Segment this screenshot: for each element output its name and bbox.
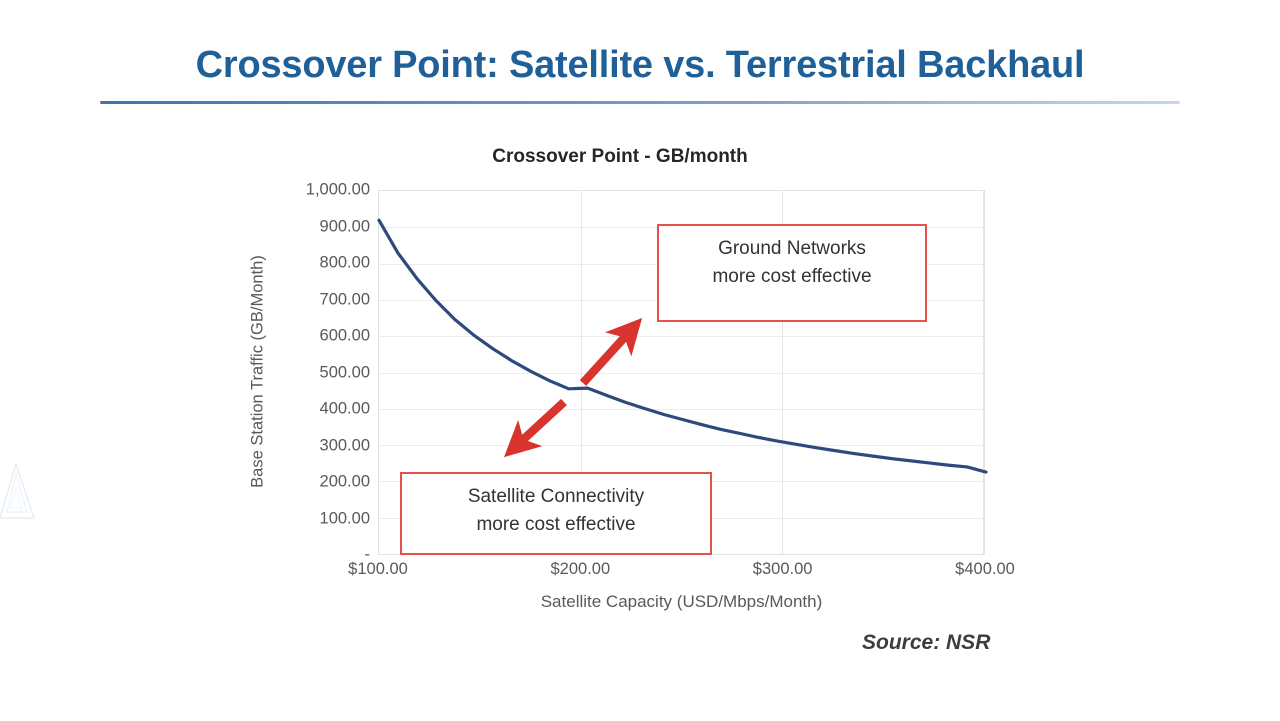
y-tick-label: 800.00 — [270, 254, 370, 273]
y-tick-label: 100.00 — [270, 509, 370, 528]
y-tick-label: 600.00 — [270, 327, 370, 346]
x-tick-label: $400.00 — [915, 560, 1055, 579]
x-axis-ticks: $100.00 $200.00 $300.00 $400.00 — [378, 560, 985, 586]
x-tick-label: $100.00 — [308, 560, 448, 579]
y-tick-label: 900.00 — [270, 217, 370, 236]
decorative-watermark-icon — [0, 462, 40, 522]
y-tick-label: 300.00 — [270, 436, 370, 455]
y-tick-label: 700.00 — [270, 290, 370, 309]
y-tick-label: 1,000.00 — [270, 181, 370, 200]
callout-line-1: Satellite Connectivity — [402, 483, 710, 511]
crossover-chart: Crossover Point - GB/month Base Station … — [210, 140, 1040, 670]
x-tick-label: $200.00 — [510, 560, 650, 579]
callout-satellite-connectivity: Satellite Connectivity more cost effecti… — [400, 472, 712, 555]
callout-line-1: Ground Networks — [659, 235, 925, 263]
page-title: Crossover Point: Satellite vs. Terrestri… — [0, 44, 1280, 87]
x-tick-label: $300.00 — [713, 560, 853, 579]
y-tick-label: 400.00 — [270, 400, 370, 419]
y-axis-ticks: 1,000.00 900.00 800.00 700.00 600.00 500… — [260, 190, 370, 555]
y-tick-label: 200.00 — [270, 473, 370, 492]
title-underline-rule — [100, 101, 1180, 104]
source-note: Source: NSR — [862, 631, 990, 655]
x-axis-title: Satellite Capacity (USD/Mbps/Month) — [378, 592, 985, 612]
callout-ground-networks: Ground Networks more cost effective — [657, 224, 927, 322]
callout-line-2: more cost effective — [659, 263, 925, 291]
callout-line-2: more cost effective — [402, 511, 710, 539]
chart-title: Crossover Point - GB/month — [380, 146, 860, 168]
y-tick-label: 500.00 — [270, 363, 370, 382]
